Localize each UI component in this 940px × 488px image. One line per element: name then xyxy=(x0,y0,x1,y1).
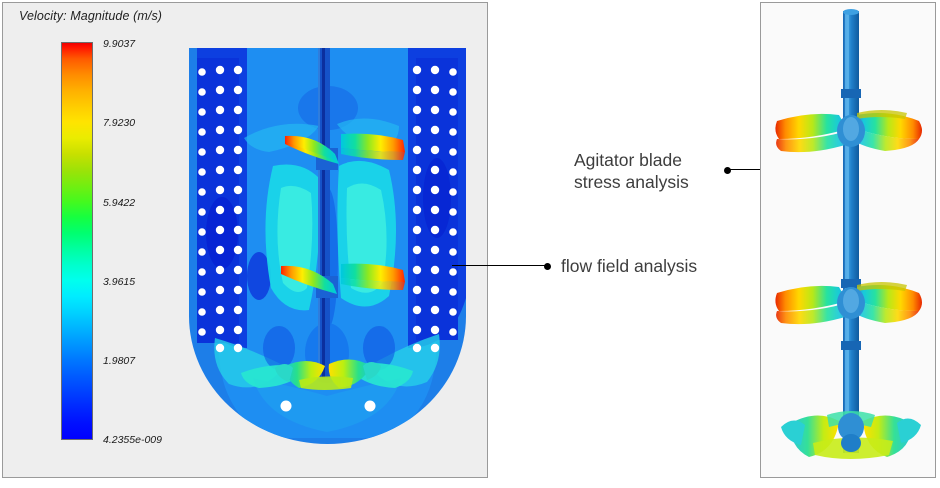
impeller-bottom xyxy=(781,411,921,459)
colorbar-label-4: 1.9807 xyxy=(103,355,135,367)
colorbar-label-3: 3.9615 xyxy=(103,276,135,288)
cfd-panel: Velocity: Magnitude (m/s) 9.9037 7.9230 … xyxy=(2,2,488,478)
colorbar-gradient xyxy=(61,42,93,440)
flow-field-leader-line xyxy=(452,265,546,266)
colorbar-label-5: 4.2355e-009 xyxy=(103,434,162,446)
colorbar-legend: 9.9037 7.9230 5.9422 3.9615 1.9807 4.235… xyxy=(61,42,181,442)
cfd-contour-plot xyxy=(189,48,466,448)
agitator-blade-annotation: Agitator blade stress analysis xyxy=(574,149,689,194)
impeller-upper xyxy=(775,110,922,152)
flow-field-annotation-line1: flow field analysis xyxy=(561,255,697,277)
agitator-blade-annotation-line1: Agitator blade xyxy=(574,149,689,171)
impeller-middle xyxy=(775,282,922,324)
agitator-stress-model xyxy=(761,3,935,477)
cfd-title: Velocity: Magnitude (m/s) xyxy=(19,9,162,23)
colorbar-label-0: 9.9037 xyxy=(103,38,135,50)
contour-field xyxy=(189,48,466,448)
colorbar-label-1: 7.9230 xyxy=(103,117,135,129)
fea-panel xyxy=(760,2,936,478)
flow-field-annotation: flow field analysis xyxy=(561,255,697,277)
colorbar-label-2: 5.9422 xyxy=(103,197,135,209)
agitator-blade-annotation-line2: stress analysis xyxy=(574,171,689,193)
